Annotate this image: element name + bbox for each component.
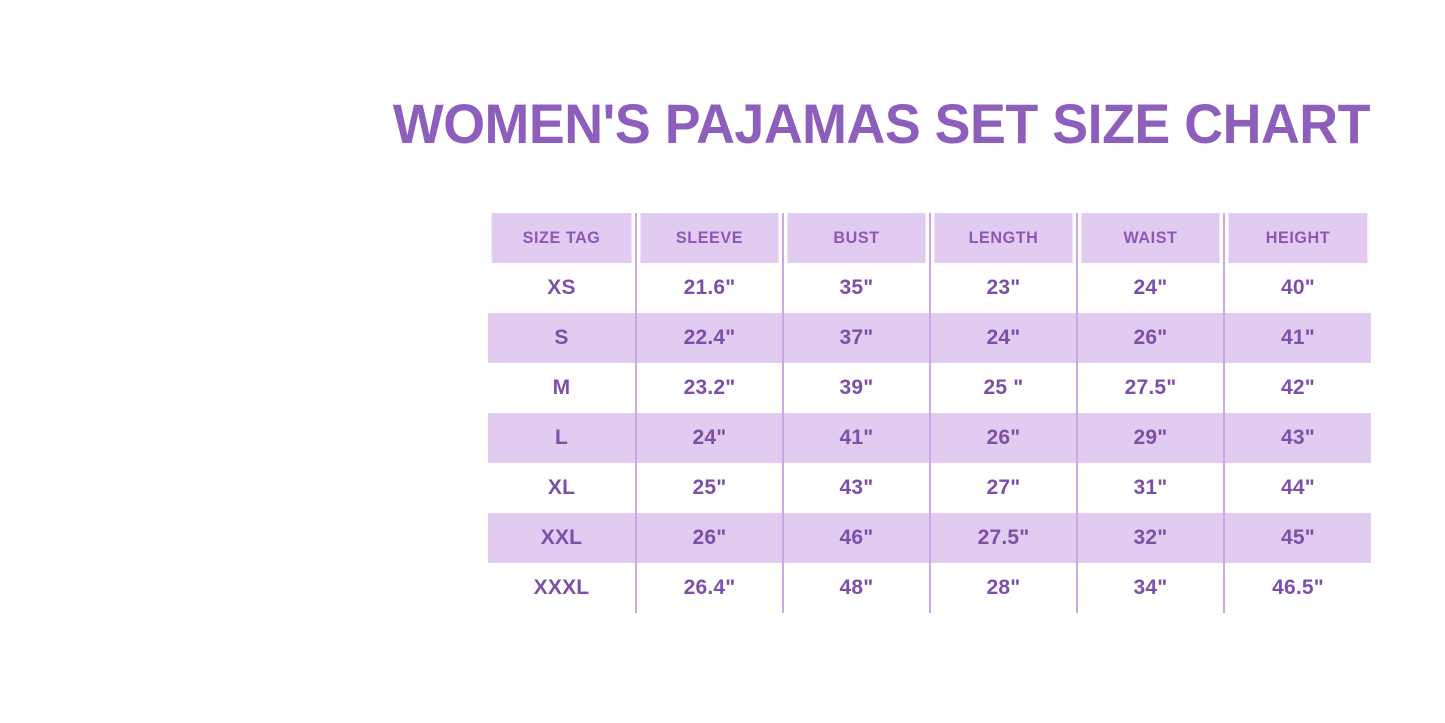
table-row: S22.4"37"24"26"41"	[488, 313, 1371, 363]
measurement-cell: 26"	[930, 413, 1077, 463]
measurement-cell: 27.5"	[930, 513, 1077, 563]
size-tag-cell: M	[488, 363, 636, 413]
measurement-cell: 43"	[1224, 413, 1371, 463]
measurement-cell: 29"	[1077, 413, 1224, 463]
measurement-cell: 25 "	[930, 363, 1077, 413]
measurement-cell: 44"	[1224, 463, 1371, 513]
size-tag-cell: S	[488, 313, 636, 363]
size-chart-page: WOMEN'S PAJAMAS SET SIZE CHART SIZE TAGS…	[0, 0, 1445, 723]
measurement-cell: 46"	[783, 513, 930, 563]
measurement-cell: 22.4"	[636, 313, 783, 363]
table-body: XS21.6"35"23"24"40"S22.4"37"24"26"41"M23…	[488, 263, 1371, 613]
measurement-cell: 35"	[783, 263, 930, 313]
measurement-cell: 48"	[783, 563, 930, 613]
table-row: XS21.6"35"23"24"40"	[488, 263, 1371, 313]
size-chart-table: SIZE TAGSLEEVEBUSTLENGTHWAISTHEIGHT XS21…	[488, 213, 1371, 613]
measurement-cell: 39"	[783, 363, 930, 413]
table-row: L24"41"26"29"43"	[488, 413, 1371, 463]
measurement-cell: 40"	[1224, 263, 1371, 313]
column-header: LENGTH	[934, 213, 1074, 263]
table-row: XL25"43"27"31"44"	[488, 463, 1371, 513]
size-tag-cell: XXL	[488, 513, 636, 563]
table-row: XXXL26.4"48"28"34"46.5"	[488, 563, 1371, 613]
measurement-cell: 25"	[636, 463, 783, 513]
table-header: SIZE TAGSLEEVEBUSTLENGTHWAISTHEIGHT	[488, 213, 1371, 263]
table-header-row: SIZE TAGSLEEVEBUSTLENGTHWAISTHEIGHT	[488, 213, 1371, 263]
measurement-cell: 45"	[1224, 513, 1371, 563]
size-tag-cell: XS	[488, 263, 636, 313]
size-tag-cell: XXXL	[488, 563, 636, 613]
measurement-cell: 24"	[636, 413, 783, 463]
measurement-cell: 26.4"	[636, 563, 783, 613]
measurement-cell: 42"	[1224, 363, 1371, 413]
measurement-cell: 21.6"	[636, 263, 783, 313]
measurement-cell: 28"	[930, 563, 1077, 613]
measurement-cell: 24"	[1077, 263, 1224, 313]
size-tag-cell: XL	[488, 463, 636, 513]
measurement-cell: 37"	[783, 313, 930, 363]
table-row: M23.2"39"25 "27.5"42"	[488, 363, 1371, 413]
measurement-cell: 43"	[783, 463, 930, 513]
column-header: SIZE TAG	[492, 213, 633, 263]
table-row: XXL26"46"27.5"32"45"	[488, 513, 1371, 563]
column-header: WAIST	[1081, 213, 1221, 263]
size-chart-table-container: SIZE TAGSLEEVEBUSTLENGTHWAISTHEIGHT XS21…	[488, 213, 1371, 616]
measurement-cell: 27.5"	[1077, 363, 1224, 413]
column-header: SLEEVE	[640, 213, 780, 263]
measurement-cell: 24"	[930, 313, 1077, 363]
measurement-cell: 32"	[1077, 513, 1224, 563]
column-header: HEIGHT	[1228, 213, 1368, 263]
measurement-cell: 41"	[783, 413, 930, 463]
measurement-cell: 31"	[1077, 463, 1224, 513]
page-title: WOMEN'S PAJAMAS SET SIZE CHART	[55, 94, 1370, 154]
column-header: BUST	[787, 213, 927, 263]
measurement-cell: 34"	[1077, 563, 1224, 613]
measurement-cell: 26"	[636, 513, 783, 563]
measurement-cell: 23"	[930, 263, 1077, 313]
measurement-cell: 23.2"	[636, 363, 783, 413]
measurement-cell: 27"	[930, 463, 1077, 513]
measurement-cell: 26"	[1077, 313, 1224, 363]
measurement-cell: 41"	[1224, 313, 1371, 363]
size-tag-cell: L	[488, 413, 636, 463]
measurement-cell: 46.5"	[1224, 563, 1371, 613]
